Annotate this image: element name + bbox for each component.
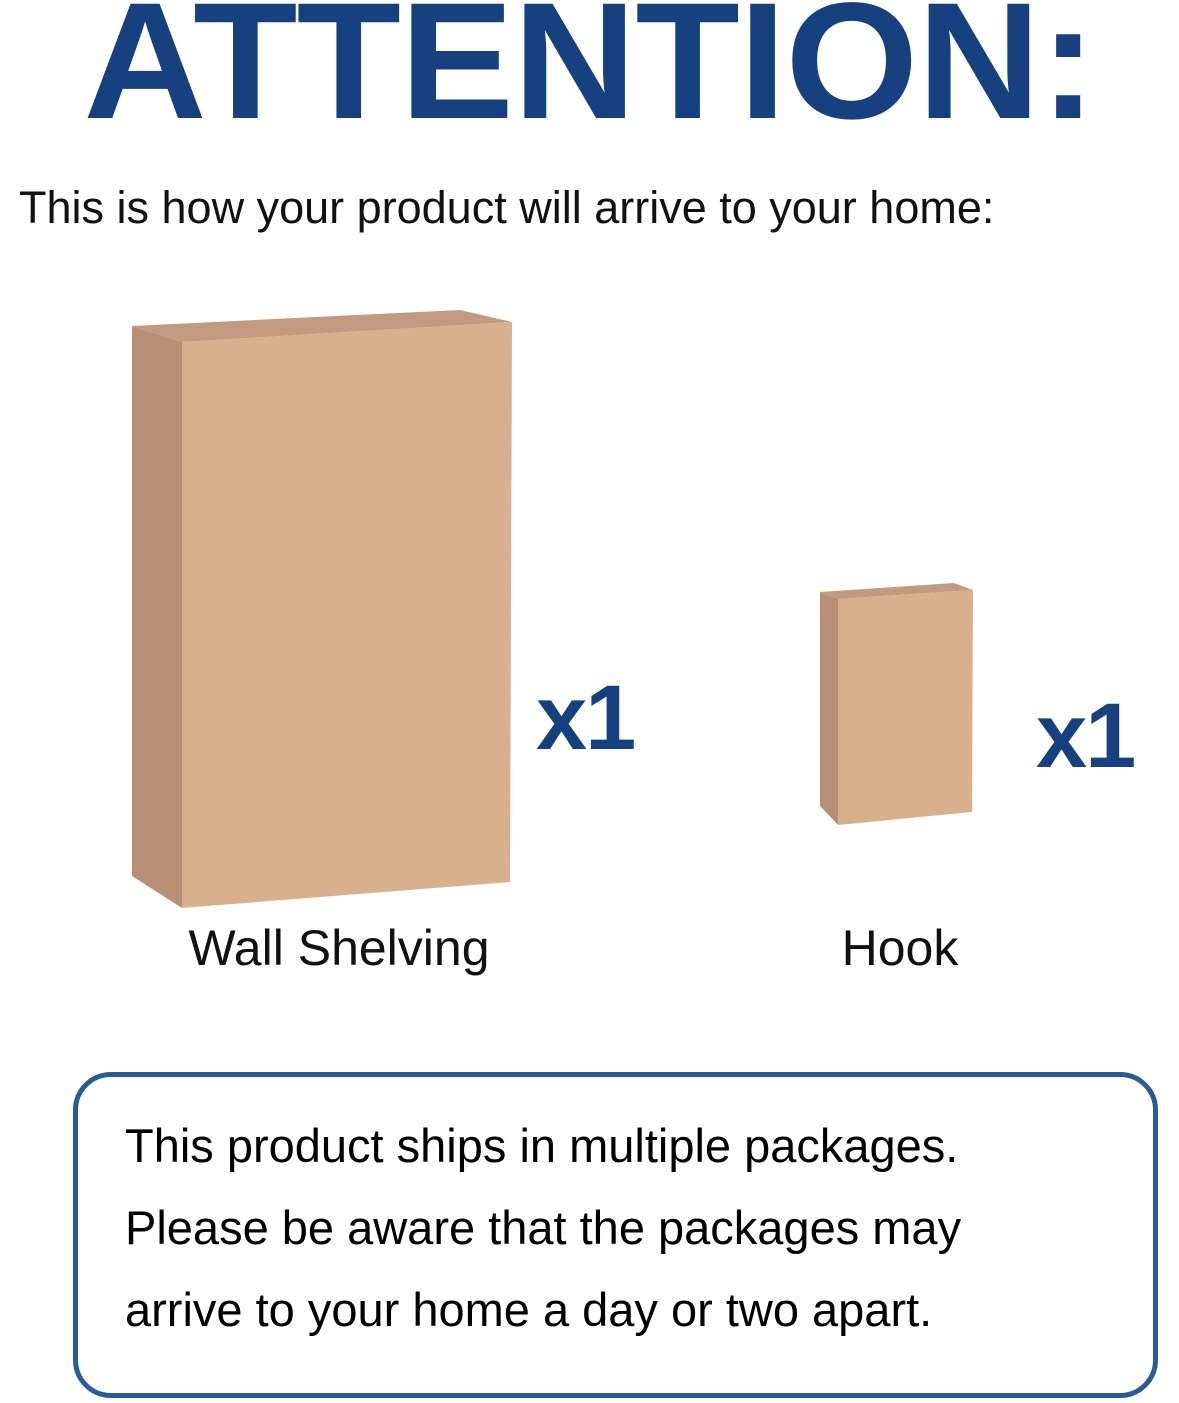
callout-text-block: This product ships in multiple packages.… — [125, 1105, 1125, 1351]
quantity-label-wall-shelving: x1 — [536, 672, 634, 764]
carton-box-icon — [812, 580, 987, 830]
package-caption-hook: Hook — [730, 920, 1070, 976]
package-illustration-hook — [812, 580, 987, 830]
quantity-label-hook: x1 — [1036, 690, 1134, 782]
subtitle-text: This is how your product will arrive to … — [19, 182, 994, 234]
package-illustration-wall-shelving — [120, 310, 520, 920]
page-title: ATTENTION: — [0, 0, 1179, 152]
shipping-notice-page: ATTENTION: This is how your product will… — [0, 0, 1179, 1403]
callout-line-3: arrive to your home a day or two apart. — [125, 1269, 1125, 1351]
callout-line-2: Please be aware that the packages may — [125, 1187, 1125, 1269]
carton-box-icon — [120, 310, 520, 920]
package-caption-wall-shelving: Wall Shelving — [0, 920, 678, 976]
callout-line-1: This product ships in multiple packages. — [125, 1105, 1125, 1187]
shipping-notice-callout: This product ships in multiple packages.… — [73, 1072, 1158, 1398]
